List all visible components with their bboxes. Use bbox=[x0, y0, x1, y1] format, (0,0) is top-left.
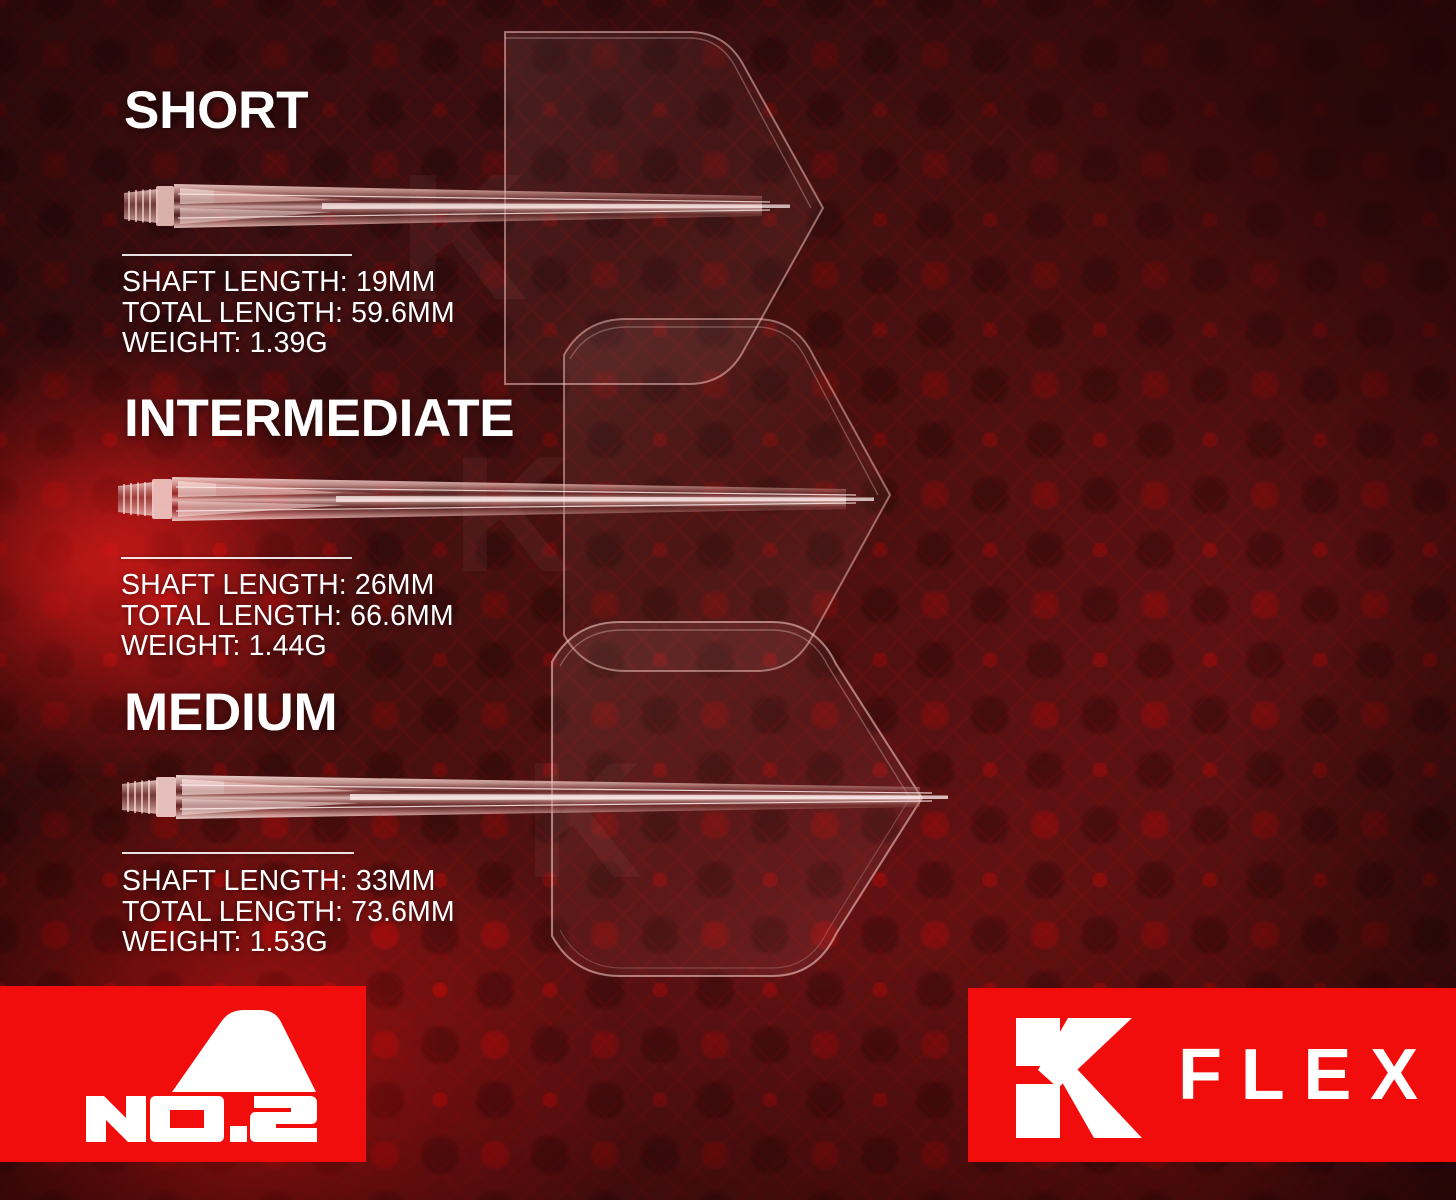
no2-logo-banner bbox=[0, 986, 366, 1162]
spec-weight-short: WEIGHT: 1.39G bbox=[122, 328, 455, 359]
k-letter-icon bbox=[1016, 1010, 1144, 1140]
divider-short bbox=[122, 254, 352, 256]
kflex-logo: FLEX bbox=[1016, 1010, 1437, 1140]
spec-weight-medium: WEIGHT: 1.53G bbox=[122, 927, 455, 958]
flex-wordmark: FLEX bbox=[1178, 1039, 1437, 1111]
spec-weight-intermediate: WEIGHT: 1.44G bbox=[121, 631, 454, 662]
spec-shaft-length-intermediate: SHAFT LENGTH: 26MM bbox=[121, 570, 454, 601]
spec-total-length-intermediate: TOTAL LENGTH: 66.6MM bbox=[121, 601, 454, 632]
dart-shaft-medium bbox=[120, 768, 950, 826]
kflex-logo-banner: FLEX bbox=[968, 988, 1456, 1162]
dart-shaft-intermediate bbox=[116, 470, 876, 528]
spec-list-short: SHAFT LENGTH: 19MM TOTAL LENGTH: 59.6MM … bbox=[122, 267, 455, 359]
dart-shaft-short bbox=[122, 178, 792, 234]
section-heading-medium: MEDIUM bbox=[124, 686, 337, 739]
spec-shaft-length-short: SHAFT LENGTH: 19MM bbox=[122, 267, 455, 298]
spec-total-length-short: TOTAL LENGTH: 59.6MM bbox=[122, 298, 455, 329]
spec-shaft-length-medium: SHAFT LENGTH: 33MM bbox=[122, 866, 455, 897]
spec-list-medium: SHAFT LENGTH: 33MM TOTAL LENGTH: 73.6MM … bbox=[122, 866, 455, 958]
infographic-canvas: K K K bbox=[0, 0, 1456, 1200]
spec-list-intermediate: SHAFT LENGTH: 26MM TOTAL LENGTH: 66.6MM … bbox=[121, 570, 454, 662]
no2-logo bbox=[84, 1004, 319, 1146]
divider-medium bbox=[122, 852, 354, 854]
section-heading-short: SHORT bbox=[124, 84, 308, 137]
section-heading-intermediate: INTERMEDIATE bbox=[124, 392, 514, 445]
divider-intermediate bbox=[121, 557, 352, 559]
spec-total-length-medium: TOTAL LENGTH: 73.6MM bbox=[122, 897, 455, 928]
